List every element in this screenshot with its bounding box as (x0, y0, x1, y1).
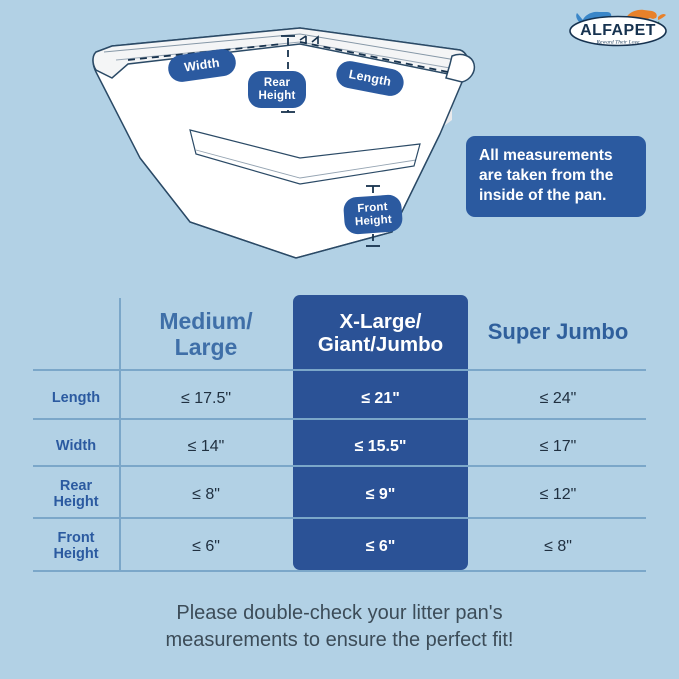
cell-front-height-super-jumbo: ≤ 8" (470, 538, 646, 556)
row-label-rear-height-line2: Height (33, 494, 119, 510)
row-label-width-line1: Width (33, 438, 119, 454)
cell-width-xlarge: ≤ 15.5" (293, 438, 468, 456)
cell-rear-height-super-jumbo: ≤ 12" (470, 486, 646, 504)
row-label-front-height-line1: Front (33, 530, 119, 546)
width-label-text: Width (183, 57, 220, 75)
rear-height-label-pill: Rear Height (248, 71, 306, 108)
column-header-xlarge-line1: X-Large/ (293, 311, 468, 334)
footer-note-line2: measurements to ensure the perfect fit! (60, 627, 619, 654)
cell-width-super-jumbo: ≤ 17" (470, 438, 646, 456)
front-height-label-pill: Front Height (343, 194, 403, 235)
table-divider-1 (33, 418, 646, 420)
cell-rear-height-medium-large: ≤ 8" (121, 486, 291, 504)
column-header-medium-large: Medium/ Large (121, 309, 291, 361)
column-header-super-jumbo-line1: Super Jumbo (470, 320, 646, 345)
cell-length-super-jumbo: ≤ 24" (470, 390, 646, 408)
column-header-medium-large-line1: Medium/ (121, 309, 291, 335)
cell-rear-height-xlarge: ≤ 9" (293, 486, 468, 504)
row-label-front-height-line2: Height (33, 546, 119, 562)
measurement-note-callout: All measurements are taken from the insi… (466, 136, 646, 217)
table-divider-bottom (33, 570, 646, 572)
size-comparison-table: Medium/ Large X-Large/ Giant/Jumbo Super… (0, 285, 679, 585)
column-header-xlarge-giant-jumbo: X-Large/ Giant/Jumbo (293, 311, 468, 357)
footer-note: Please double-check your litter pan's me… (60, 600, 619, 653)
row-label-rear-height-line1: Rear (33, 478, 119, 494)
cell-width-medium-large: ≤ 14" (121, 438, 291, 456)
footer-note-line1: Please double-check your litter pan's (60, 600, 619, 627)
row-label-length: Length (33, 390, 119, 406)
table-divider-2 (33, 465, 646, 467)
cell-front-height-medium-large: ≤ 6" (121, 538, 291, 556)
row-label-width: Width (33, 438, 119, 454)
rear-height-label-line2: Height (259, 90, 296, 102)
column-header-super-jumbo: Super Jumbo (470, 320, 646, 345)
row-label-length-line1: Length (33, 390, 119, 406)
cell-length-xlarge: ≤ 21" (293, 390, 468, 408)
cell-length-medium-large: ≤ 17.5" (121, 390, 291, 408)
table-divider-3 (33, 517, 646, 519)
column-header-xlarge-line2: Giant/Jumbo (293, 334, 468, 357)
litter-pan-illustration: Width Rear Height Length Front Height Al… (0, 8, 679, 278)
row-label-front-height: Front Height (33, 530, 119, 563)
length-label-text: Length (348, 68, 393, 89)
litter-pan-size-chart: ALFAPET Reward Their Love (0, 0, 679, 679)
front-height-label-line2: Height (355, 213, 393, 228)
row-label-rear-height: Rear Height (33, 478, 119, 511)
rear-height-label-line1: Rear (264, 77, 290, 89)
cell-front-height-xlarge: ≤ 6" (293, 538, 468, 556)
table-divider-header (33, 369, 646, 371)
column-header-medium-large-line2: Large (121, 335, 291, 361)
